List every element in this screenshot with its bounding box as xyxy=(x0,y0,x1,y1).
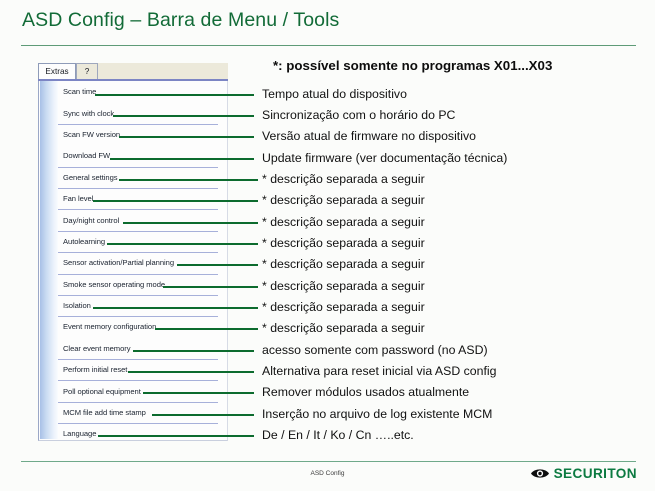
annotation-text: Remover módulos usados atualmente xyxy=(262,385,469,399)
menu-item-label: Language xyxy=(58,429,96,438)
footer-divider xyxy=(21,461,636,462)
annotation-text: Sincronização com o horário do PC xyxy=(262,108,455,122)
annotation-text: * descrição separada a seguir xyxy=(262,215,425,229)
leader-line xyxy=(93,307,258,309)
menu-item[interactable]: Scan FW version xyxy=(58,124,228,145)
menu-item-label: Scan time xyxy=(58,87,96,96)
menu-item-label: Poll optional equipment xyxy=(58,387,141,396)
menu-item-label: Download FW xyxy=(58,151,110,160)
menu-item-label: Clear event memory xyxy=(58,344,130,353)
annotation-text: acesso somente com password (no ASD) xyxy=(262,343,488,357)
leader-line xyxy=(152,414,254,416)
leader-line xyxy=(143,392,254,394)
menu-item-label: Sensor activation/Partial planning xyxy=(58,258,174,267)
annotation-text: Tempo atual do dispositivo xyxy=(262,87,407,101)
annotation-text: De / En / It / Ko / Cn …..etc. xyxy=(262,428,414,442)
menu-item[interactable]: Language xyxy=(58,423,228,444)
leader-line xyxy=(107,243,258,245)
annotation-text: * descrição separada a seguir xyxy=(262,236,425,250)
menu-item[interactable]: Sensor activation/Partial planning xyxy=(58,252,228,273)
leader-line xyxy=(110,158,254,160)
menu-item[interactable]: Event memory configuration xyxy=(58,316,228,337)
menu-item-label: Smoke sensor operating mode xyxy=(58,280,165,289)
menu-gutter-strip xyxy=(40,81,58,439)
menu-item[interactable]: General settings xyxy=(58,167,228,188)
leader-line xyxy=(133,350,254,352)
menu-tab-help[interactable]: ? xyxy=(76,63,98,79)
menu-item-label: Fan level xyxy=(58,194,93,203)
menu-item[interactable]: Autolearning xyxy=(58,231,228,252)
annotation-text: * descrição separada a seguir xyxy=(262,172,425,186)
leader-line xyxy=(95,94,254,96)
leader-line xyxy=(119,179,258,181)
securiton-logo: SECURITON xyxy=(530,466,637,481)
menu-item[interactable]: Poll optional equipment xyxy=(58,380,228,401)
leader-line xyxy=(128,371,254,373)
annotation-text: * descrição separada a seguir xyxy=(262,300,425,314)
annotation-text: * descrição separada a seguir xyxy=(262,321,425,335)
leader-line xyxy=(93,200,258,202)
menu-item[interactable]: Isolation xyxy=(58,295,228,316)
leader-line xyxy=(155,328,258,330)
annotation-text: * descrição separada a seguir xyxy=(262,257,425,271)
menu-item-label: MCM file add time stamp xyxy=(58,408,146,417)
menu-item[interactable]: Download FW xyxy=(58,145,228,166)
menu-item[interactable]: Fan level xyxy=(58,188,228,209)
annotation-text: Alternativa para reset inicial via ASD c… xyxy=(262,364,496,378)
menu-item-label: Day/night control xyxy=(58,216,119,225)
menu-item[interactable]: Day/night control xyxy=(58,209,228,230)
menu-item[interactable]: Perform initial reset xyxy=(58,359,228,380)
menu-item[interactable]: MCM file add time stamp xyxy=(58,402,228,423)
menu-dropdown-panel: Scan timeSync with clockScan FW versionD… xyxy=(38,81,228,441)
leader-line xyxy=(123,222,258,224)
annotation-text: * descrição separada a seguir xyxy=(262,193,425,207)
eye-icon xyxy=(530,467,550,480)
page-title: ASD Config – Barra de Menu / Tools xyxy=(22,9,339,32)
menu-item[interactable]: Smoke sensor operating mode xyxy=(58,274,228,295)
menu-item-label: Sync with clock xyxy=(58,109,114,118)
brand-name: SECURITON xyxy=(554,466,637,481)
leader-line xyxy=(113,115,254,117)
menu-item-label: Event memory configuration xyxy=(58,322,156,331)
menu-item[interactable]: Sync with clock xyxy=(58,102,228,123)
menu-item-label: Perform initial reset xyxy=(58,365,127,374)
leader-line xyxy=(98,435,254,437)
annotation-text: * descrição separada a seguir xyxy=(262,279,425,293)
title-divider xyxy=(21,45,636,46)
leader-line xyxy=(119,136,254,138)
leader-line xyxy=(177,264,258,266)
menu-item-label: Autolearning xyxy=(58,237,105,246)
extras-menu-window: Extras ? Scan timeSync with clockScan FW… xyxy=(38,63,228,441)
annotation-text: Inserção no arquivo de log existente MCM xyxy=(262,407,492,421)
menu-item-label: Scan FW version xyxy=(58,130,120,139)
footnote-asterisk-note: *: possível somente no programas X01...X… xyxy=(273,58,552,73)
leader-line xyxy=(163,286,258,288)
menu-item[interactable]: Scan time xyxy=(58,81,228,102)
menu-item[interactable]: Clear event memory xyxy=(58,338,228,359)
menu-tab-extras[interactable]: Extras xyxy=(38,63,76,79)
annotation-text: Versão atual de firmware no dispositivo xyxy=(262,129,476,143)
menu-item-label: General settings xyxy=(58,173,118,182)
menu-item-label: Isolation xyxy=(58,301,91,310)
annotation-text: Update firmware (ver documentação técnic… xyxy=(262,151,507,165)
